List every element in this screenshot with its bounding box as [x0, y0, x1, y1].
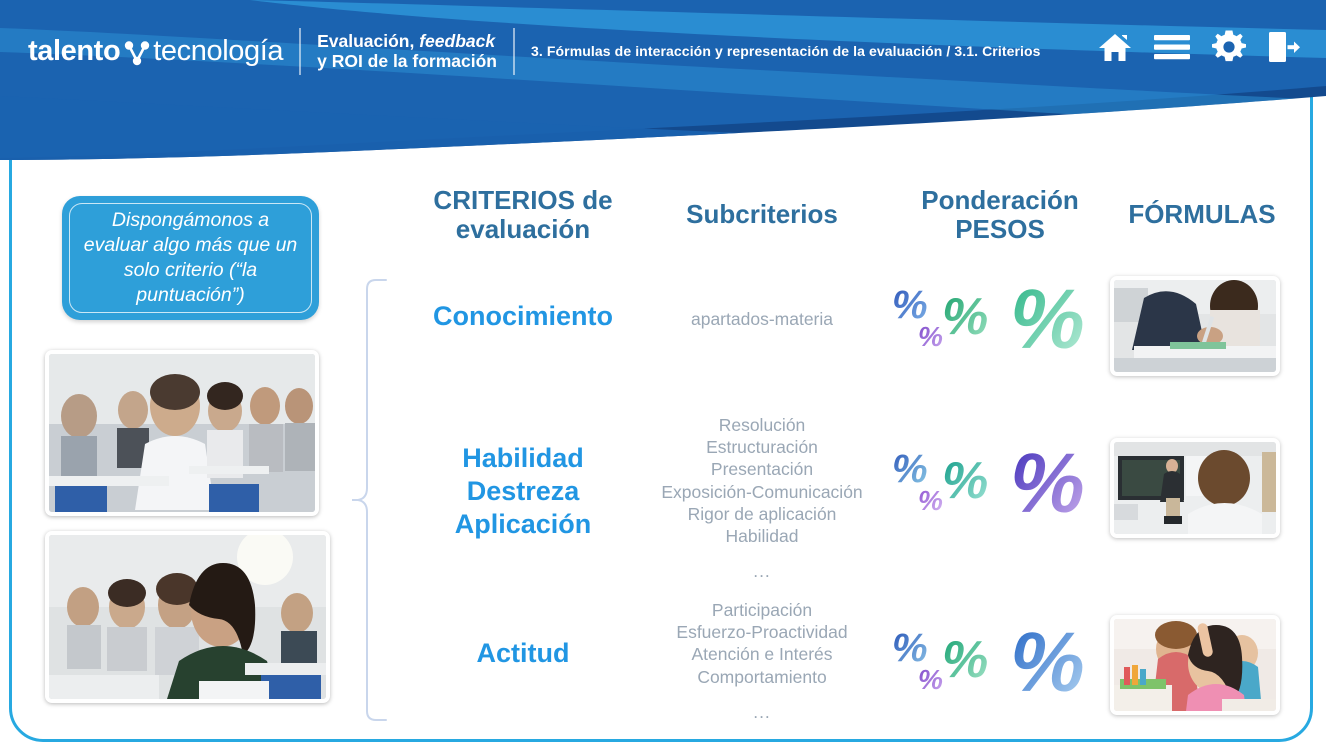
list-ellipsis: ...	[622, 701, 902, 723]
list-item: Rigor de aplicación	[688, 504, 837, 524]
list-ellipsis: ...	[622, 560, 902, 582]
percent-symbols-icon-shape: % % % %	[890, 617, 1115, 709]
percent-symbols-icon: % % % %	[890, 438, 1115, 530]
list-item: Presentación	[711, 459, 813, 479]
photo-student-raising-hand	[1110, 615, 1280, 715]
criterion-name: Conocimiento	[398, 300, 648, 333]
callout-inner-border: Dispongámonos a evaluar algo más que un …	[69, 203, 312, 313]
brand-logo[interactable]: talento tecnología	[28, 35, 283, 68]
list-item: Estructuración	[706, 437, 818, 457]
subcriteria-list: Resolución Estructuración Presentación E…	[622, 414, 902, 583]
breadcrumb-sub[interactable]: / 3.1. Criterios	[946, 43, 1040, 59]
photo-students-classroom	[45, 350, 319, 516]
header: talento tecnología Evaluación, feedback	[0, 0, 1326, 160]
formula-cell	[1110, 276, 1280, 376]
menu-icon[interactable]	[1154, 33, 1190, 61]
callout-text: Dispongámonos a evaluar algo más que un …	[70, 208, 311, 308]
home-icon[interactable]	[1098, 32, 1132, 62]
svg-text:%: %	[1010, 274, 1085, 366]
slide-root: talento tecnología Evaluación, feedback	[0, 0, 1326, 755]
percent-symbols-icon: % % % %	[890, 617, 1115, 709]
table-row: Conocimiento apartados-materia	[350, 274, 1294, 399]
svg-text:%: %	[942, 452, 988, 510]
course-title-line1-italic: feedback	[419, 31, 495, 51]
column-header-subcriterios: Subcriterios	[642, 200, 882, 229]
gear-icon[interactable]	[1212, 30, 1246, 64]
weights-cell: % % % %	[890, 438, 1115, 528]
list-item: apartados-materia	[691, 309, 833, 329]
photo-student-raising-hand-image	[1114, 619, 1276, 711]
svg-text:%: %	[942, 288, 988, 346]
svg-text:%: %	[918, 485, 943, 516]
svg-text:%: %	[918, 664, 943, 695]
list-item: Esfuerzo-Proactividad	[676, 622, 847, 642]
photo-teacher-presenting	[1110, 438, 1280, 538]
formula-cell	[1110, 615, 1280, 715]
logo-text-bold: talento	[28, 35, 120, 68]
criteria-table: CRITERIOS de evaluación Subcriterios Pon…	[350, 180, 1294, 725]
logo-text-light: tecnología	[153, 35, 283, 68]
table-row: Habilidad Destreza Aplicación Resolución…	[350, 410, 1294, 585]
photo-student-writing-image	[49, 535, 326, 699]
svg-text:%: %	[1010, 617, 1085, 709]
weights-cell: % % % %	[890, 274, 1115, 364]
breadcrumb-main[interactable]: 3. Fórmulas de interacción y representac…	[531, 43, 942, 59]
photo-writing-desk	[1110, 276, 1280, 376]
list-item: Atención e Interés	[691, 644, 832, 664]
breadcrumb: 3. Fórmulas de interacción y representac…	[531, 43, 1041, 59]
exit-icon[interactable]	[1268, 30, 1300, 64]
table-row: Actitud Participación Esfuerzo-Proactivi…	[350, 585, 1294, 725]
column-header-criterios: CRITERIOS de evaluación	[398, 186, 648, 245]
weights-cell: % % % %	[890, 617, 1115, 707]
subcriteria-list: apartados-materia	[622, 308, 902, 330]
svg-text:%: %	[942, 631, 988, 689]
photo-student-writing	[45, 531, 330, 703]
subcriteria-list: Participación Esfuerzo-Proactividad Aten…	[622, 599, 902, 723]
svg-text:%: %	[918, 321, 943, 352]
criterion-name: Actitud	[398, 637, 648, 670]
header-divider-1	[299, 28, 301, 75]
course-title-line2: y ROI de la formación	[317, 51, 497, 71]
list-item: Resolución	[719, 415, 806, 435]
header-icon-bar	[1098, 30, 1300, 64]
percent-symbols-icon: % % % %	[890, 274, 1115, 366]
callout-box: Dispongámonos a evaluar algo más que un …	[62, 196, 319, 320]
column-header-formulas: FÓRMULAS	[1102, 200, 1302, 229]
course-title-line1-plain: Evaluación,	[317, 31, 414, 51]
percent-symbols-icon-shape: % % % %	[890, 274, 1115, 366]
svg-text:%: %	[1010, 438, 1085, 530]
network-node-icon	[124, 40, 150, 66]
list-item: Participación	[712, 600, 812, 620]
course-title: Evaluación, feedback y ROI de la formaci…	[317, 31, 497, 72]
header-divider-2	[513, 28, 515, 75]
list-item: Habilidad	[726, 526, 799, 546]
photo-teacher-presenting-image	[1114, 442, 1276, 534]
course-title-line1: Evaluación, feedback	[317, 31, 497, 51]
list-item: Exposición-Comunicación	[661, 482, 862, 502]
photo-students-classroom-image	[49, 354, 315, 512]
criterion-name-text: Habilidad Destreza Aplicación	[398, 442, 648, 542]
criterion-name: Habilidad Destreza Aplicación	[398, 442, 648, 542]
list-item: Comportamiento	[697, 667, 826, 687]
column-header-ponderacion: Ponderación PESOS	[880, 186, 1120, 245]
photo-writing-desk-image	[1114, 280, 1276, 372]
percent-symbols-icon-shape: % % % %	[890, 438, 1115, 530]
formula-cell	[1110, 438, 1280, 538]
